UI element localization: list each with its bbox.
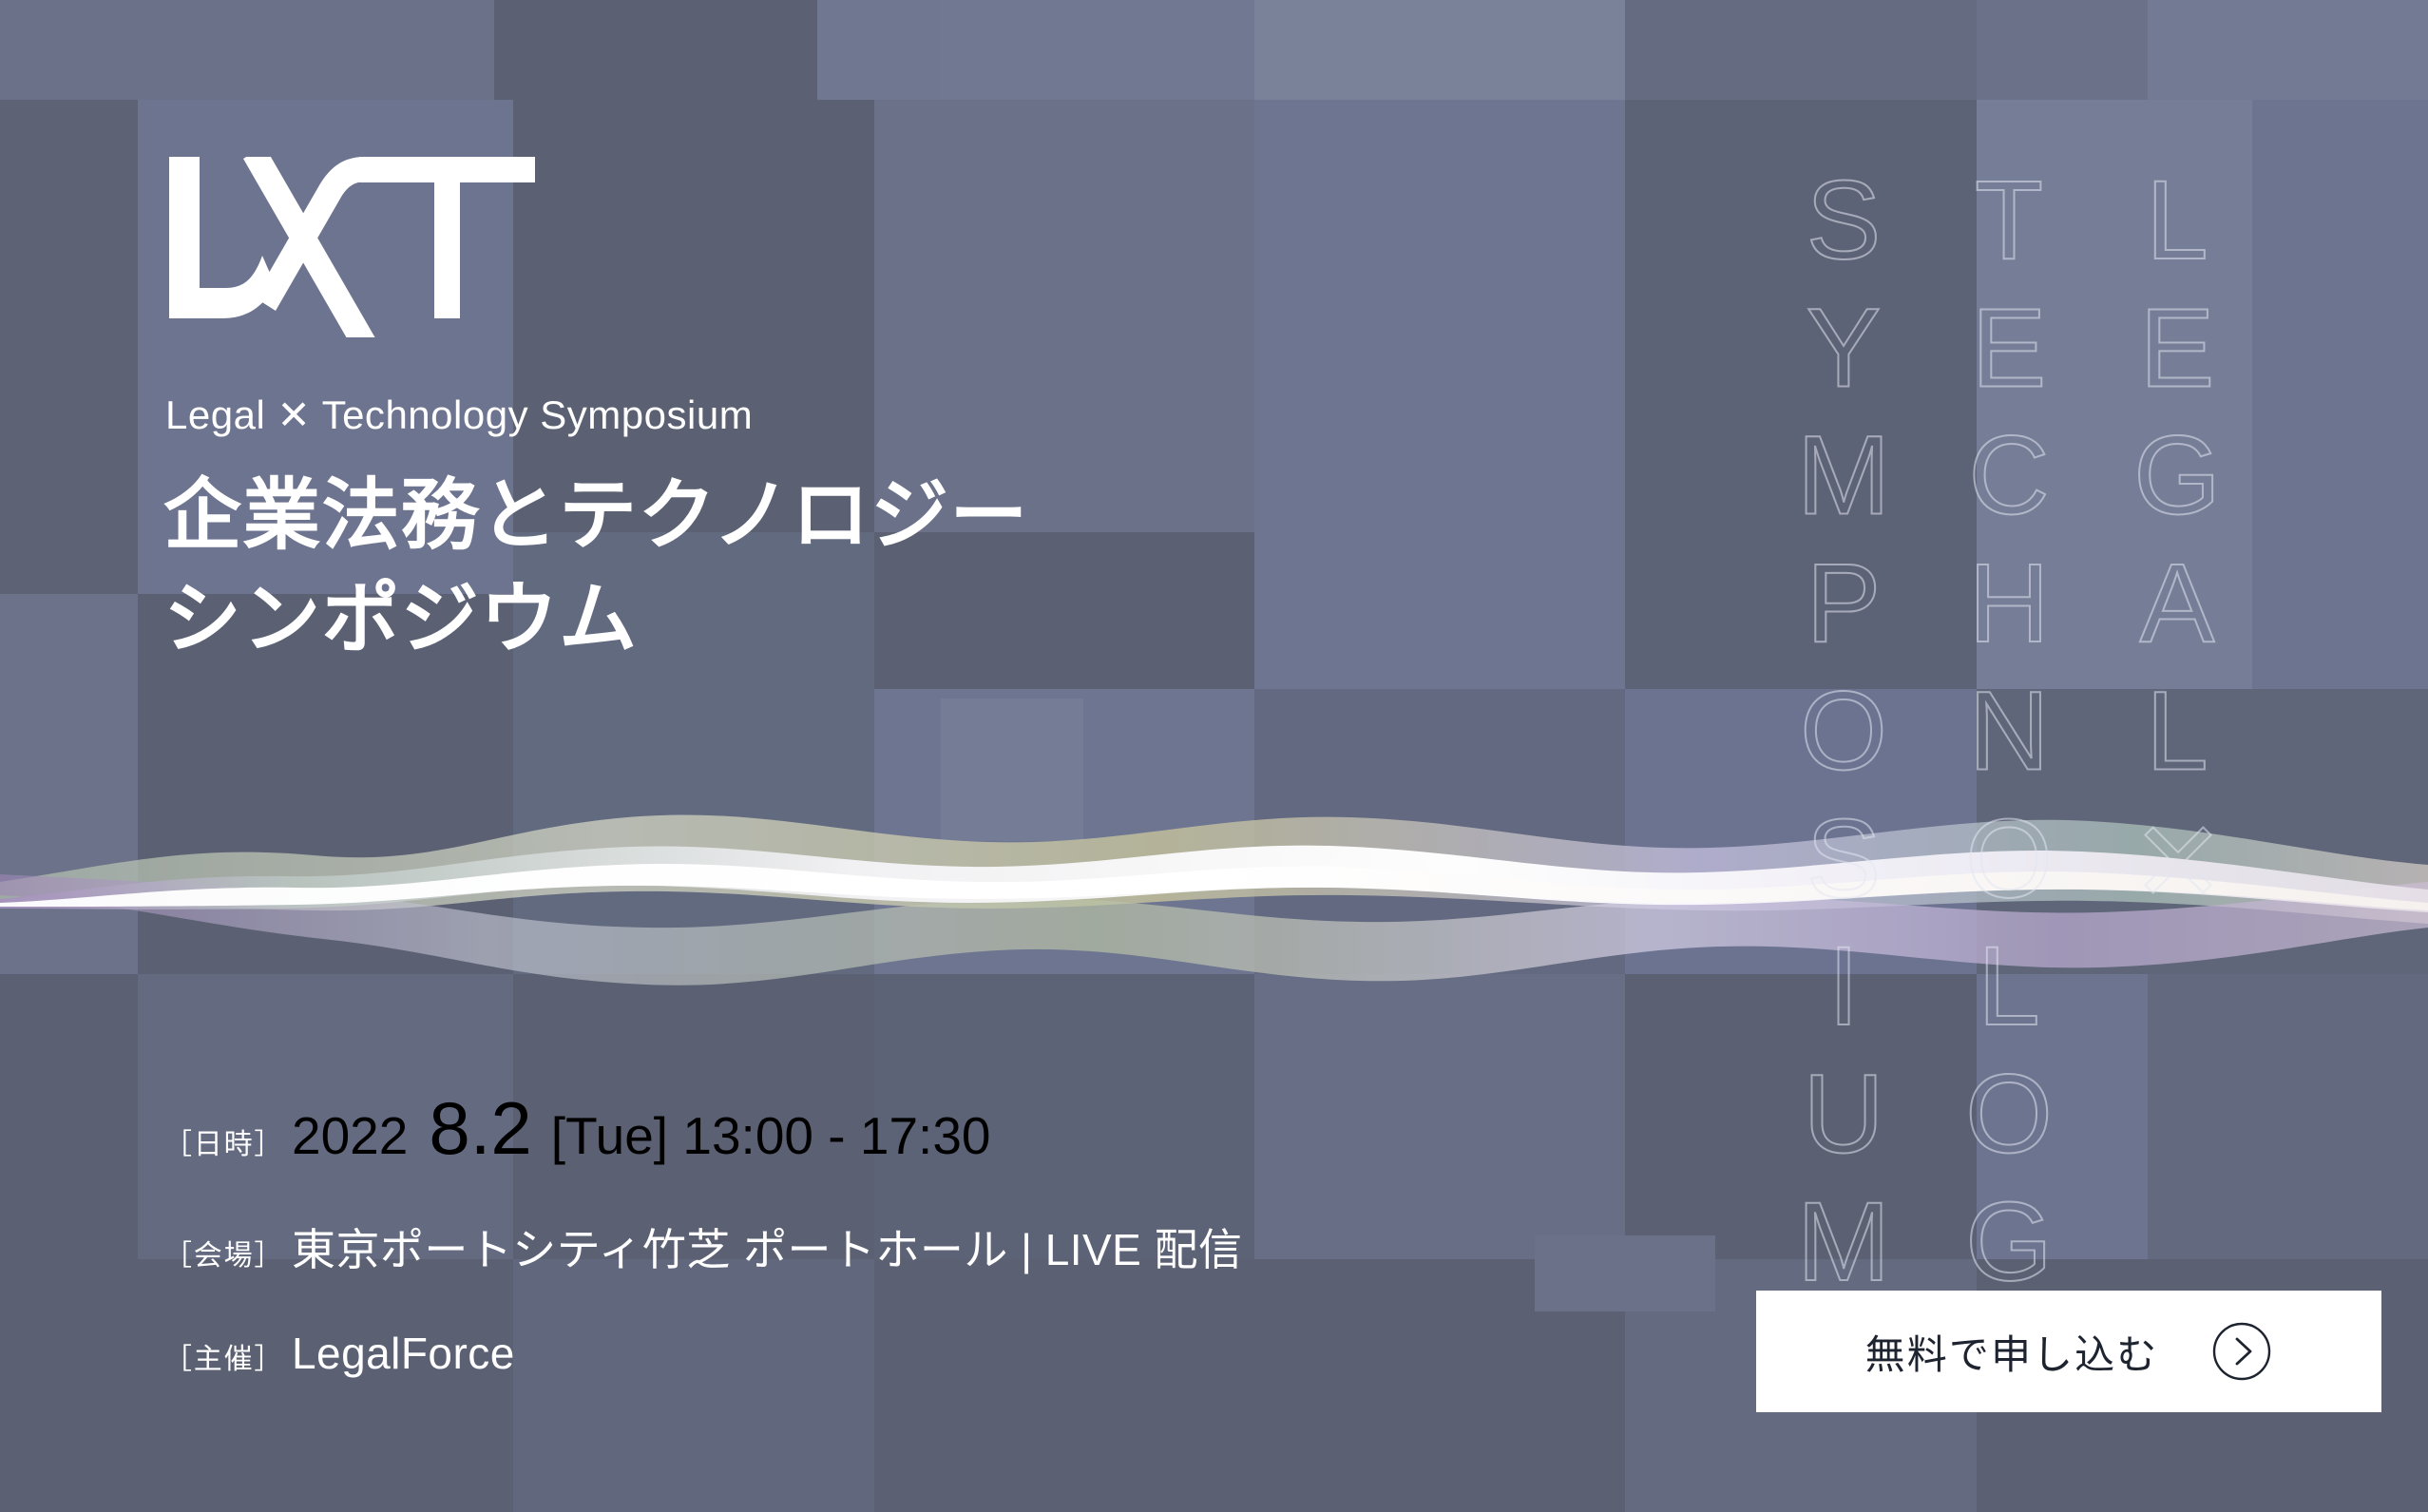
date-label: ［日時］ xyxy=(163,1120,292,1162)
hero-content: Legal ✕ Technology Symposium 企業法務とテクノロジー… xyxy=(163,0,1589,1512)
mosaic-tile xyxy=(2252,100,2428,689)
headline-line-1: 企業法務とテクノロジー xyxy=(163,464,1029,567)
mosaic-tile xyxy=(0,100,138,594)
page-title: 企業法務とテクノロジー シンポジウム xyxy=(163,464,1029,671)
detail-row-date: ［日時］ 2022 8.2 [Tue] 13:00 - 17:30 xyxy=(163,1091,1494,1166)
lxt-logo xyxy=(163,157,544,337)
vertical-wordmark-technology: TECHNOLOGY xyxy=(1944,158,2074,1435)
tagline: Legal ✕ Technology Symposium xyxy=(165,392,753,438)
date-value: 2022 8.2 [Tue] 13:00 - 17:30 xyxy=(292,1091,991,1166)
circle-arrow-right-icon xyxy=(2211,1321,2272,1382)
date-time: [Tue] 13:00 - 17:30 xyxy=(551,1105,991,1166)
mosaic-tile xyxy=(1625,0,1977,100)
register-button[interactable]: 無料で申し込む xyxy=(1756,1291,2381,1412)
headline-line-2: シンポジウム xyxy=(163,567,1029,671)
mosaic-tile xyxy=(1977,0,2148,100)
date-day: 8.2 xyxy=(429,1091,531,1165)
vertical-wordmark-legalx: LEGAL✕ xyxy=(2112,158,2243,929)
host-label: ［主催］ xyxy=(163,1335,292,1377)
venue-label: ［会場］ xyxy=(163,1232,292,1273)
vertical-wordmark-symposium: SYMPOSIUM xyxy=(1779,158,1908,1307)
event-details: ［日時］ 2022 8.2 [Tue] 13:00 - 17:30 ［会場］ 東… xyxy=(163,1091,1494,1379)
date-year: 2022 xyxy=(292,1105,408,1166)
event-key-visual: SYMPOSIUM TECHNOLOGY LEGAL✕ Legal ✕ Tech… xyxy=(0,0,2428,1512)
detail-row-venue: ［会場］ 東京ポートシティ竹芝 ポートホール | LIVE 配信 xyxy=(163,1215,1494,1278)
detail-row-host: ［主催］ LegalForce xyxy=(163,1328,1494,1379)
host-value: LegalForce xyxy=(292,1328,515,1379)
mosaic-tile xyxy=(2148,0,2428,100)
venue-value: 東京ポートシティ竹芝 ポートホール | LIVE 配信 xyxy=(292,1215,1242,1278)
register-button-label: 無料で申し込む xyxy=(1865,1323,2159,1381)
